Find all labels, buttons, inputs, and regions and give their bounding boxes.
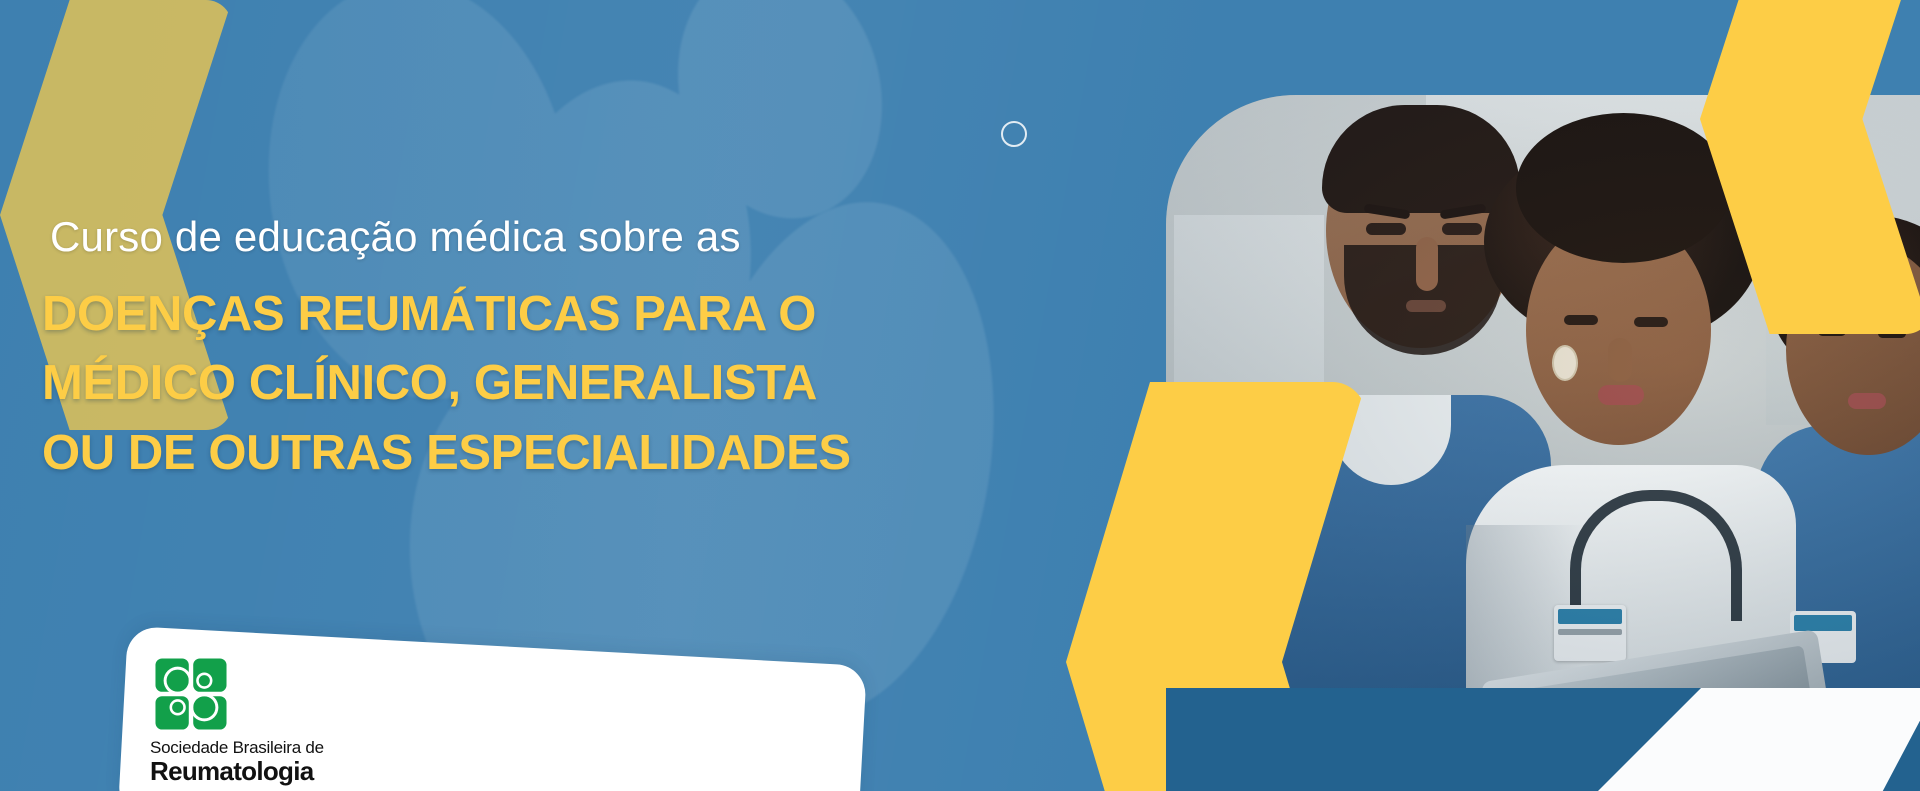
headline-line-2: MÉDICO CLÍNICO, GENERALISTA	[42, 349, 972, 419]
hospital-id-badge-band	[1794, 615, 1852, 631]
person-one-mouth	[1406, 300, 1446, 312]
hero-headline: DOENÇAS REUMÁTICAS PARA O MÉDICO CLÍNICO…	[42, 280, 972, 489]
person-one-eye	[1366, 223, 1406, 235]
person-two-eye	[1564, 315, 1598, 325]
sbr-logo[interactable]: Sociedade Brasileira de Reumatologia	[150, 657, 470, 784]
person-two-eye	[1634, 317, 1668, 327]
sbr-wordmark: Sociedade Brasileira de Reumatologia	[150, 739, 324, 784]
person-two-lips	[1598, 385, 1644, 405]
hero-text-block: Curso de educação médica sobre as DOENÇA…	[42, 212, 972, 488]
person-two-earring	[1552, 345, 1578, 381]
person-two-nose	[1608, 338, 1632, 382]
course-hero-banner: Curso de educação médica sobre as DOENÇA…	[0, 0, 1920, 791]
decorative-circle-outline-icon	[1001, 121, 1027, 147]
headline-line-1: DOENÇAS REUMÁTICAS PARA O	[42, 280, 972, 350]
person-one-eye	[1442, 223, 1482, 235]
person-one-nose	[1416, 237, 1438, 291]
person-three-lips	[1848, 393, 1886, 409]
sbr-four-cells-logo-icon	[154, 657, 228, 731]
sbr-wordmark-line-2: Reumatologia	[150, 758, 324, 784]
hero-eyebrow: Curso de educação médica sobre as	[50, 212, 972, 262]
hospital-id-badge-band	[1558, 609, 1622, 624]
person-two-hair-top	[1516, 113, 1731, 263]
hospital-id-badge-text	[1558, 629, 1622, 635]
sbr-wordmark-line-1: Sociedade Brasileira de	[150, 739, 324, 756]
headline-line-3: OU DE OUTRAS ESPECIALIDADES	[42, 419, 972, 489]
